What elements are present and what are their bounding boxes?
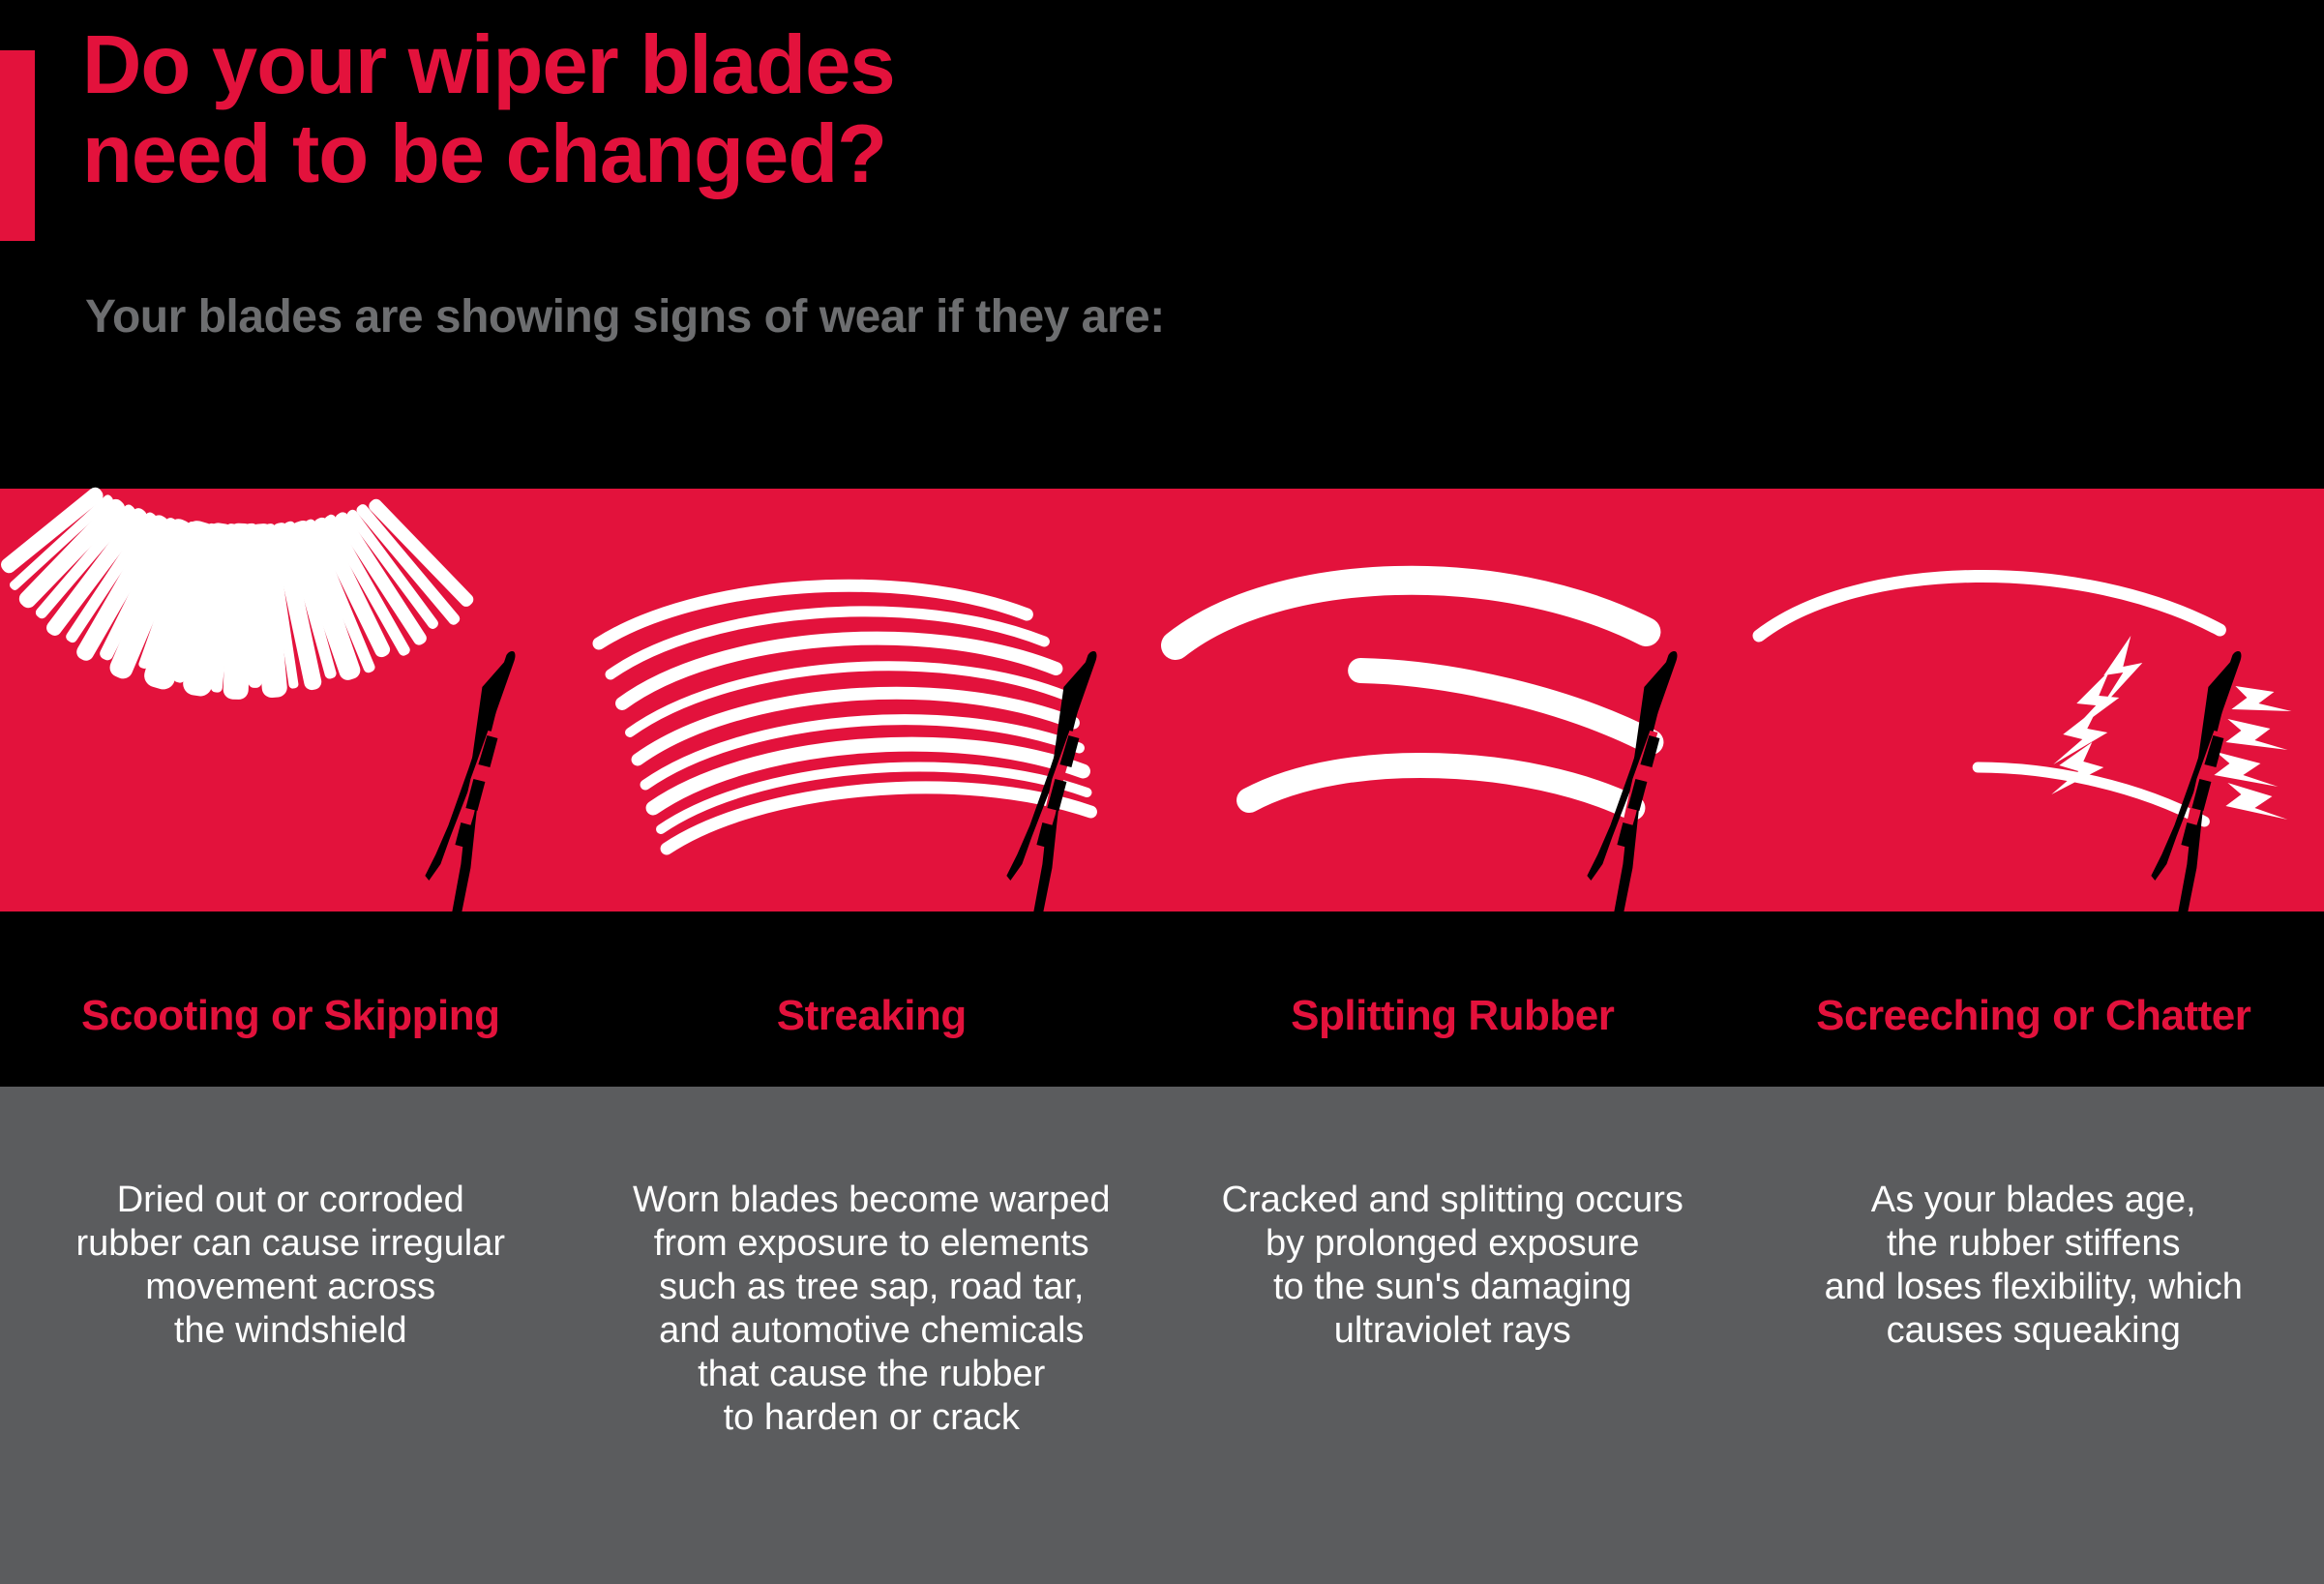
wiper-blade-icon (2151, 651, 2241, 912)
panel-description-streaking: Worn blades become warped from exposure … (581, 1087, 1163, 1584)
page-title-line-2: need to be changed? (82, 110, 1437, 199)
red-accent-bar (0, 50, 35, 241)
panel-art-scooting-or-skipping (0, 489, 581, 912)
page-title: Do your wiper blades need to be changed? (82, 21, 1437, 199)
description-text: Dried out or corroded rubber can cause i… (75, 1179, 505, 1584)
panel-description-screeching-or-chatter: As your blades age, the rubber stiffens … (1743, 1087, 2324, 1584)
three-thick-arcs-icon (1176, 581, 1651, 808)
page-title-line-1: Do your wiper blades (82, 21, 1437, 110)
panel-label-scooting-or-skipping: Scooting or Skipping (0, 912, 581, 1087)
panel-description-scooting-or-skipping: Dried out or corroded rubber can cause i… (0, 1087, 581, 1584)
concentric-thin-arcs-icon (599, 585, 1090, 849)
panel-label-splitting-rubber: Splitting Rubber (1162, 912, 1743, 1087)
lightning-bolt-noise-icon (2051, 636, 2291, 820)
wiper-blade-infographic: Do your wiper blades need to be changed?… (0, 0, 2324, 1584)
description-text: Worn blades become warped from exposure … (633, 1179, 1111, 1584)
label-band: Scooting or Skipping Streaking Splitting… (0, 912, 2324, 1087)
page-subtitle: Your blades are showing signs of wear if… (85, 290, 1165, 344)
panel-art-splitting-rubber (1162, 489, 1743, 912)
description-text: As your blades age, the rubber stiffens … (1825, 1179, 2243, 1584)
panel-label-streaking: Streaking (581, 912, 1163, 1087)
panel-art-screeching-or-chatter (1743, 489, 2324, 912)
radial-streak-fan-icon (0, 485, 476, 700)
panel-art-streaking (581, 489, 1163, 912)
description-band: Dried out or corroded rubber can cause i… (0, 1087, 2324, 1584)
panel-description-splitting-rubber: Cracked and splitting occurs by prolonge… (1162, 1087, 1743, 1584)
header: Do your wiper blades need to be changed?… (0, 0, 2324, 489)
illustration-band (0, 489, 2324, 912)
wiper-blade-icon (425, 651, 515, 912)
description-text: Cracked and splitting occurs by prolonge… (1222, 1179, 1683, 1584)
panel-label-screeching-or-chatter: Screeching or Chatter (1743, 912, 2324, 1087)
streak-arcs-icon (1759, 576, 2220, 822)
